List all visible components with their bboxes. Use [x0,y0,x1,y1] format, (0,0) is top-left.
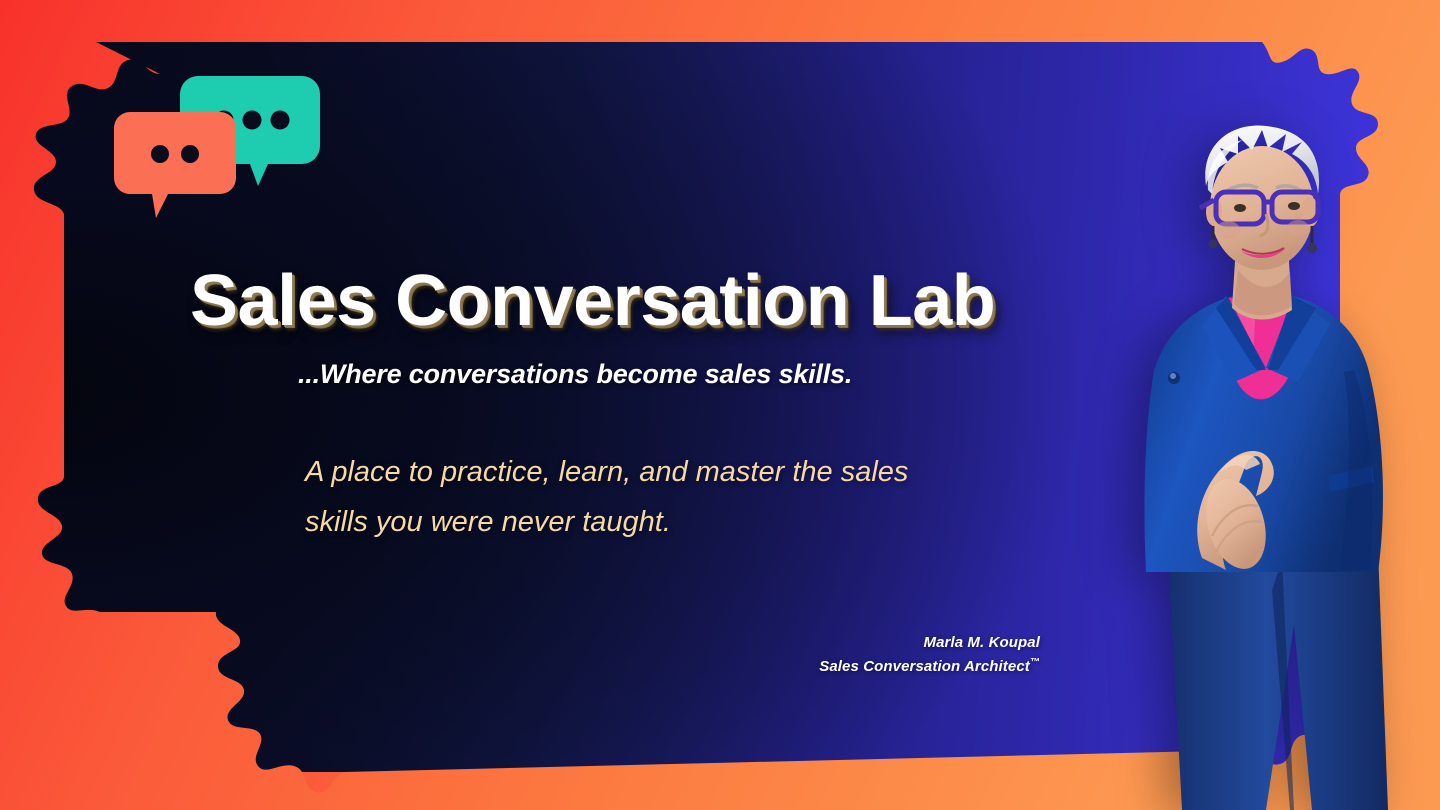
attribution-name: Marla M. Koupal [520,632,1040,655]
presenter-photo [1116,120,1440,810]
attribution-block: Marla M. Koupal Sales Conversation Archi… [520,632,1040,678]
presenter-trousers [1168,550,1388,810]
speech-bubbles-logo [112,68,322,233]
page-title: Sales Conversation Lab [190,265,1085,337]
presenter-head [1200,126,1319,270]
teal-bubble-dot [271,111,290,130]
attribution-role: Sales Conversation Architect™ [520,655,1040,679]
headline-block: Sales Conversation Lab ...Where conversa… [165,265,1085,548]
teal-bubble-dot [243,111,262,130]
slide-canvas: Sales Conversation Lab ...Where conversa… [0,0,1440,810]
coral-bubble-dot [151,145,169,163]
coral-speech-bubble-icon [114,112,236,218]
attribution-role-text: Sales Conversation Architect [819,658,1030,675]
coral-bubble-dot [181,145,199,163]
page-body-text: A place to practice, learn, and master t… [305,448,965,548]
trademark-symbol: ™ [1030,657,1040,668]
page-subtitle: ...Where conversations become sales skil… [298,359,1085,390]
